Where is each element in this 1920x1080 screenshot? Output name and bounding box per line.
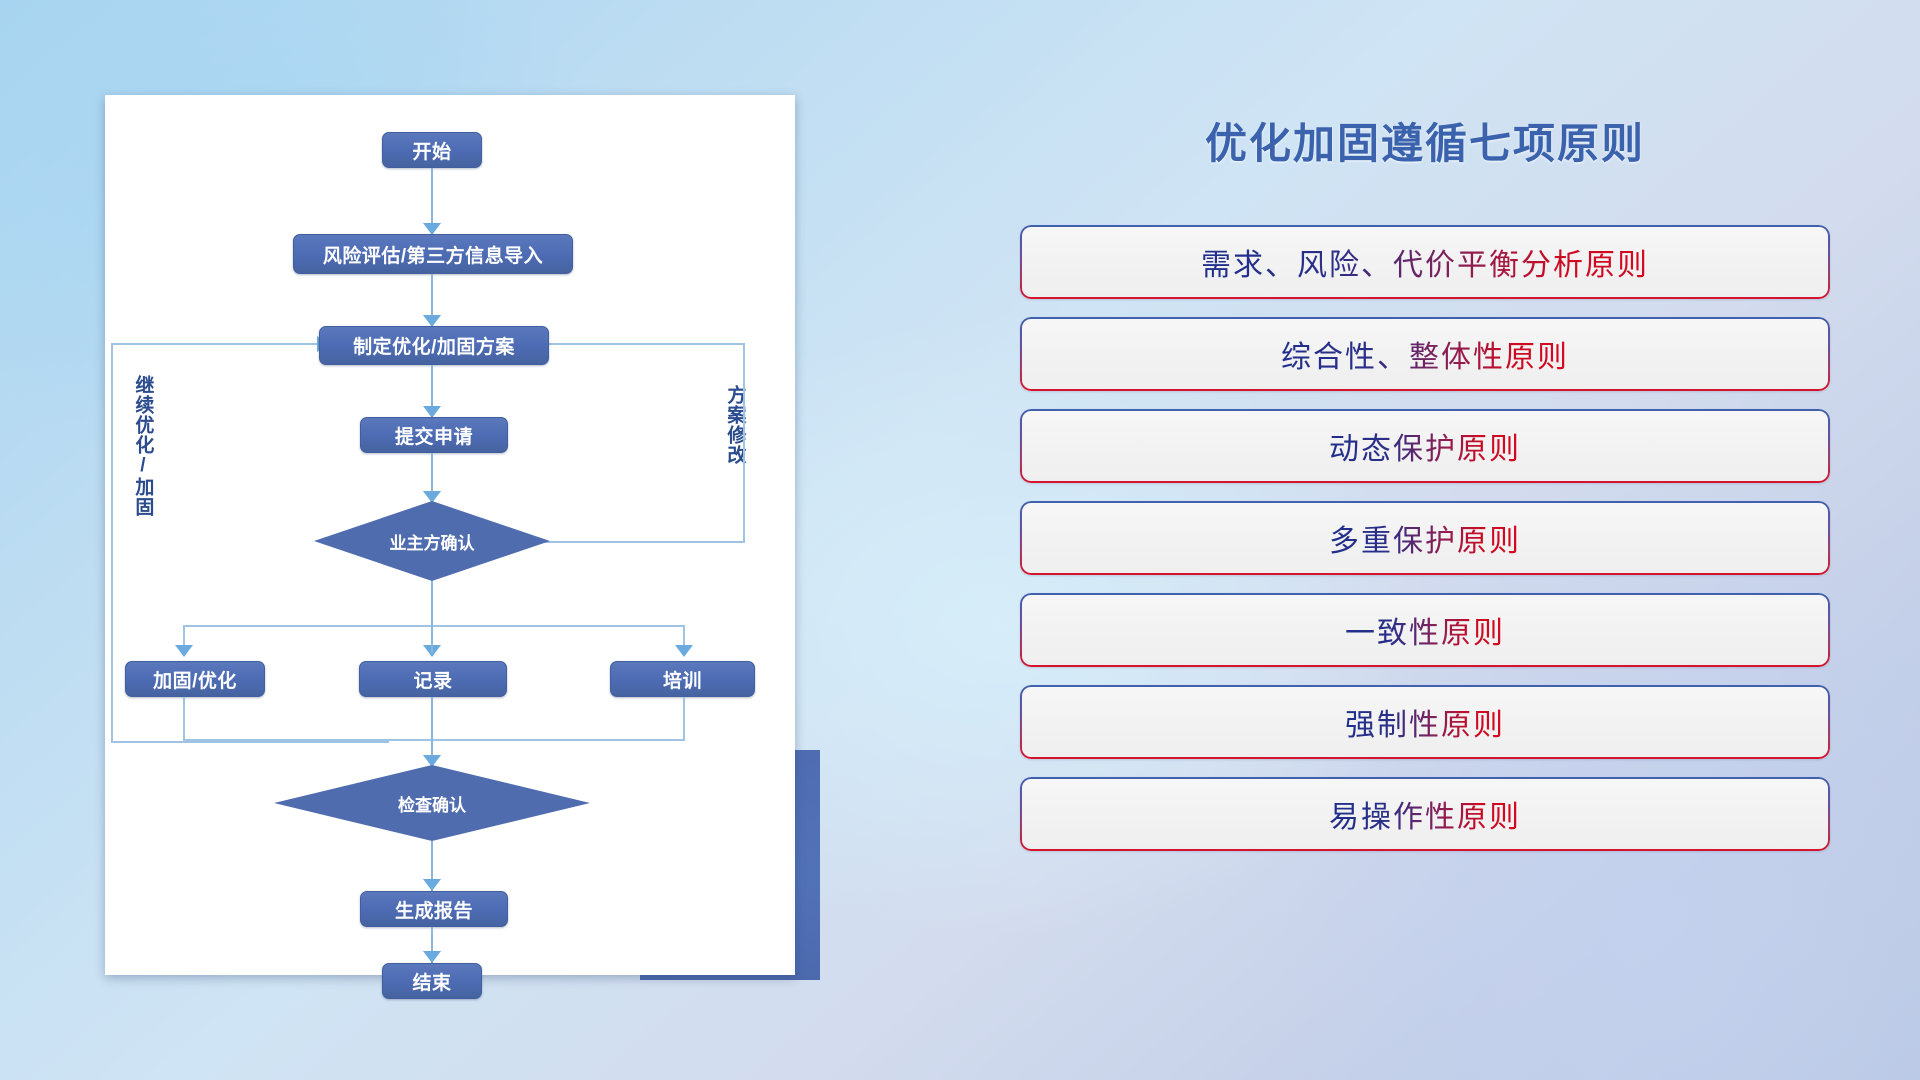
node-check-label: 检查确认 [398, 791, 466, 816]
loop-left-bottom [111, 741, 389, 743]
node-check-decision[interactable]: 检查确认 [274, 765, 590, 841]
node-start[interactable]: 开始 [382, 132, 482, 168]
node-owner-decision[interactable]: 业主方确认 [314, 501, 550, 581]
node-record-label: 记录 [413, 666, 452, 693]
node-end[interactable]: 结束 [382, 963, 482, 999]
principle-label-4: 多重保护原则 [1329, 516, 1521, 560]
node-record[interactable]: 记录 [359, 661, 507, 697]
loop-label-left: 继续优化/加固 [133, 375, 152, 517]
node-report-label: 生成报告 [395, 896, 473, 923]
node-submit-label: 提交申请 [395, 422, 473, 449]
principle-item-3[interactable]: 动态保护原则 [1020, 409, 1830, 483]
node-plan[interactable]: 制定优化/加固方案 [319, 326, 549, 365]
principles-title: 优化加固遵循七项原则 [1020, 110, 1830, 171]
arrow-to-report [423, 879, 441, 891]
node-plan-label: 制定优化/加固方案 [353, 332, 515, 359]
arrow-to-reinforce [175, 645, 193, 657]
principle-label-6: 强制性原则 [1345, 700, 1505, 744]
arrow-to-train [675, 645, 693, 657]
node-train[interactable]: 培训 [610, 661, 755, 697]
loop-left-top [111, 343, 323, 345]
loop-left-vertical [111, 343, 113, 743]
principle-item-7[interactable]: 易操作性原则 [1020, 777, 1830, 851]
principle-label-7: 易操作性原则 [1329, 792, 1521, 836]
flowchart-card: 继续优化/加固 方案修改 开始 风险评估/第三方信息导入 制定优化/加固方案 提… [105, 95, 795, 975]
edge-owner-center-drop [431, 625, 433, 653]
principle-item-5[interactable]: 一致性原则 [1020, 593, 1830, 667]
edge-reinforce-down [183, 697, 185, 741]
node-end-label: 结束 [412, 968, 451, 995]
loop-right-vertical [743, 343, 745, 543]
node-reinforce[interactable]: 加固/优化 [125, 661, 265, 697]
node-risk[interactable]: 风险评估/第三方信息导入 [293, 234, 573, 274]
principle-label-3: 动态保护原则 [1329, 424, 1521, 468]
principle-label-5: 一致性原则 [1345, 608, 1505, 652]
node-reinforce-label: 加固/优化 [153, 666, 237, 693]
edge-owner-down [431, 581, 433, 627]
principle-item-2[interactable]: 综合性、整体性原则 [1020, 317, 1830, 391]
node-train-label: 培训 [663, 666, 702, 693]
principle-item-1[interactable]: 需求、风险、代价平衡分析原则 [1020, 225, 1830, 299]
loop-label-right: 方案修改 [725, 385, 744, 465]
node-start-label: 开始 [412, 137, 451, 164]
node-owner-label: 业主方确认 [390, 529, 475, 554]
edge-owner-split [183, 625, 683, 627]
node-risk-label: 风险评估/第三方信息导入 [323, 241, 543, 268]
node-report[interactable]: 生成报告 [360, 891, 508, 927]
edge-train-down [683, 697, 685, 741]
node-submit[interactable]: 提交申请 [360, 417, 508, 453]
principle-label-1: 需求、风险、代价平衡分析原则 [1201, 240, 1649, 284]
principle-item-4[interactable]: 多重保护原则 [1020, 501, 1830, 575]
arrow-to-end [423, 951, 441, 963]
edge-merge [183, 739, 683, 741]
principles-panel: 优化加固遵循七项原则 需求、风险、代价平衡分析原则 综合性、整体性原则 动态保护… [1020, 100, 1830, 1000]
principle-item-6[interactable]: 强制性原则 [1020, 685, 1830, 759]
principle-label-2: 综合性、整体性原则 [1281, 332, 1569, 376]
